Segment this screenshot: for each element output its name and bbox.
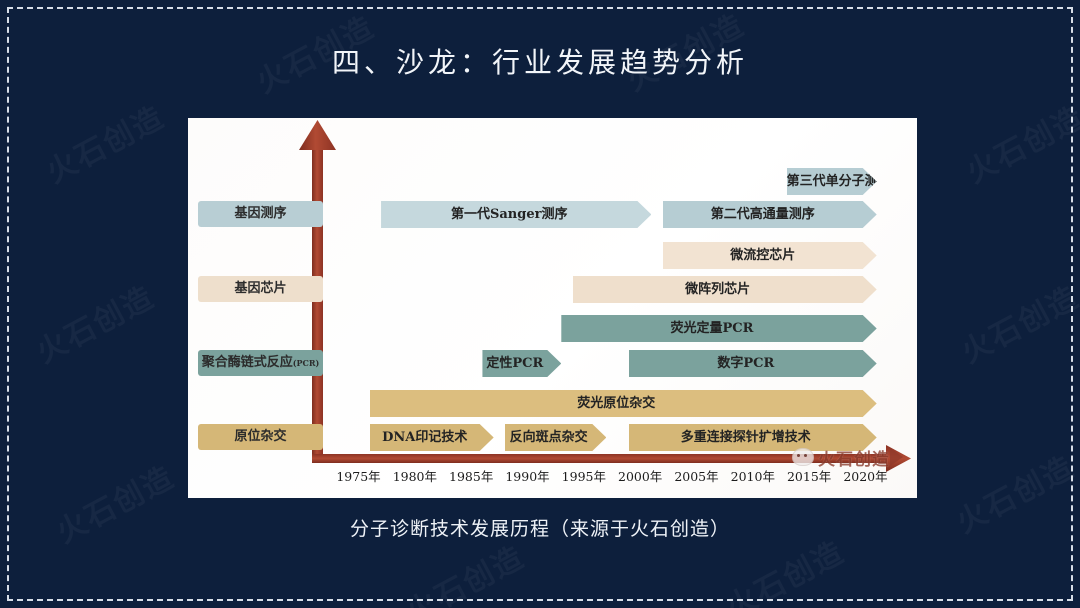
background-watermark: 火石创造 xyxy=(952,273,1080,372)
timeline-bar: 第一代Sanger测序 xyxy=(381,201,651,228)
x-axis-tick: 2015年 xyxy=(781,466,837,485)
category-label-pcr: 聚合酶链式反应(PCR) xyxy=(198,350,323,376)
timeline-bar: 反向斑点杂交 xyxy=(505,424,606,451)
logo-arrow-icon xyxy=(890,448,903,466)
chart-panel: 基因测序基因芯片聚合酶链式反应(PCR)原位杂交 第三代单分子测序第一代Sang… xyxy=(188,118,917,498)
timeline-bar: DNA印记技术 xyxy=(370,424,494,451)
chart-caption: 分子诊断技术发展历程（来源于火石创造） xyxy=(0,514,1080,541)
category-label-text: 聚合酶链式反应 xyxy=(202,355,293,370)
category-label-sub: (PCR) xyxy=(293,358,320,368)
timeline-bar: 微阵列芯片 xyxy=(573,276,877,303)
x-axis-tick: 1975年 xyxy=(331,466,387,485)
x-axis-tick: 2005年 xyxy=(668,466,724,485)
x-axis-tick: 2010年 xyxy=(725,466,781,485)
x-axis-tick: 2020年 xyxy=(837,466,893,485)
x-axis-tick-labels: 1975年1980年1985年1990年1995年2000年2005年2010年… xyxy=(188,466,917,490)
timeline-bar: 多重连接探针扩增技术 xyxy=(629,424,877,451)
x-axis-tick: 2000年 xyxy=(612,466,668,485)
x-axis-tick: 1980年 xyxy=(387,466,443,485)
chart-plot-area: 基因测序基因芯片聚合酶链式反应(PCR)原位杂交 第三代单分子测序第一代Sang… xyxy=(188,118,917,498)
background-watermark: 火石创造 xyxy=(397,533,531,608)
category-label-in-situ-hybrid: 原位杂交 xyxy=(198,424,323,450)
category-label-text: 基因芯片 xyxy=(234,281,286,296)
x-axis-tick: 1995年 xyxy=(556,466,612,485)
timeline-bar: 荧光定量PCR xyxy=(561,315,876,342)
x-axis-tick: 1985年 xyxy=(443,466,499,485)
background-watermark: 火石创造 xyxy=(27,273,161,372)
timeline-bar: 微流控芯片 xyxy=(663,242,877,269)
timeline-bar: 数字PCR xyxy=(629,350,877,377)
slide: 火石创造火石创造火石创造火石创造火石创造火石创造火石创造火石创造火石创造火石创造… xyxy=(0,0,1080,608)
page-title: 四、沙龙：行业发展趋势分析 xyxy=(0,41,1080,81)
timeline-bar: 第三代单分子测序 xyxy=(787,168,877,195)
timeline-bar: 第二代高通量测序 xyxy=(663,201,877,228)
x-axis-tick: 1990年 xyxy=(500,466,556,485)
timeline-bar: 荧光原位杂交 xyxy=(370,390,877,417)
background-watermark: 火石创造 xyxy=(957,93,1080,192)
category-label-text: 基因测序 xyxy=(234,206,286,221)
timeline-bar: 定性PCR xyxy=(482,350,561,377)
category-label-text: 原位杂交 xyxy=(234,429,286,444)
background-watermark: 火石创造 xyxy=(37,93,171,192)
category-label-gene-sequencing: 基因测序 xyxy=(198,201,323,227)
category-label-gene-chip: 基因芯片 xyxy=(198,276,323,302)
